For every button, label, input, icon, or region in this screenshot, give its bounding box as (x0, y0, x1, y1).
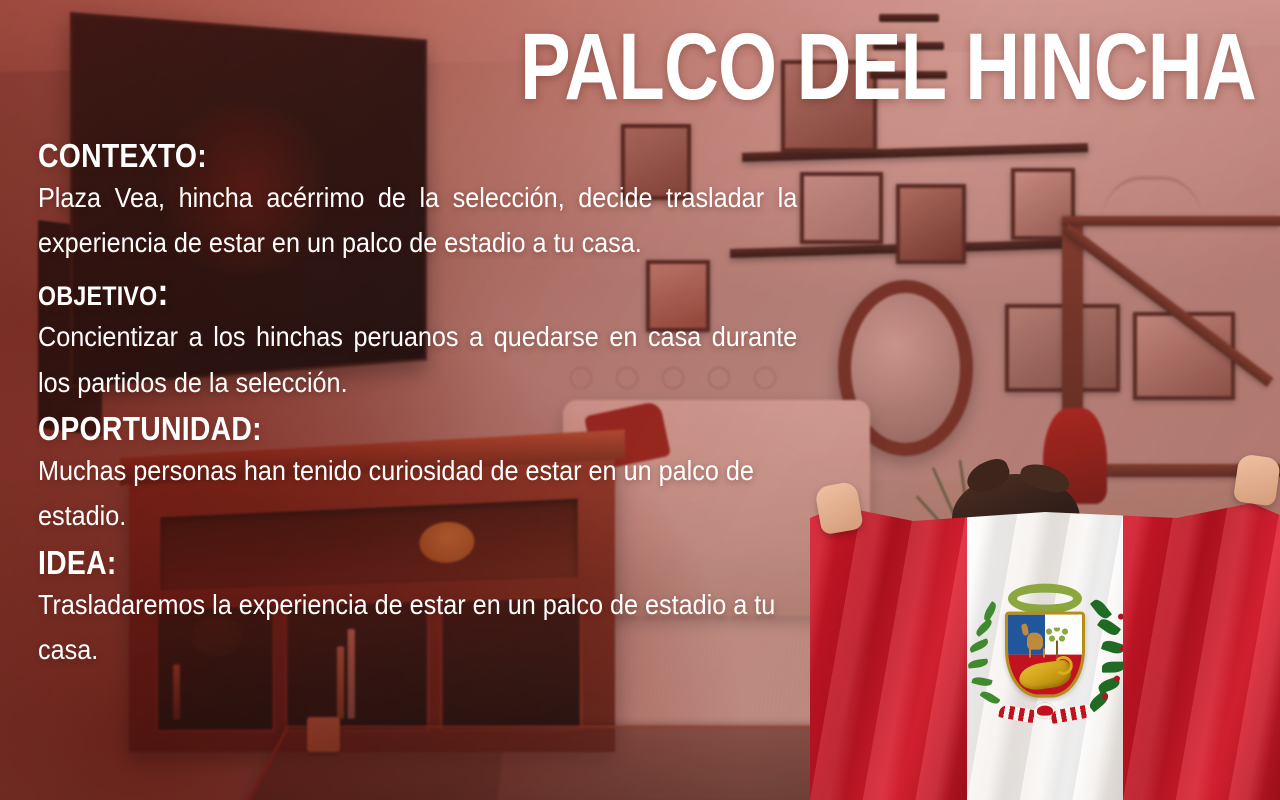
text-blocks: CONTEXTO: Plaza Vea, hincha acérrimo de … (38, 138, 798, 678)
heading-contexto: CONTEXTO: (38, 138, 692, 175)
body-oportunidad: Muchas personas han tenido curiosidad de… (38, 448, 797, 539)
block-oportunidad: OPORTUNIDAD: Muchas personas han tenido … (38, 411, 798, 539)
block-idea: IDEA: Trasladaremos la experiencia de es… (38, 545, 798, 673)
heading-idea: IDEA: (38, 545, 692, 582)
block-contexto: CONTEXTO: Plaza Vea, hincha acérrimo de … (38, 138, 798, 266)
heading-objetivo: Objetivo: (38, 272, 692, 315)
body-objetivo: Concientizar a los hinchas peruanos a qu… (38, 314, 797, 405)
page-title: PALCO DEL HINCHA (520, 22, 1256, 113)
body-contexto: Plaza Vea, hincha acérrimo de la selecci… (38, 175, 797, 266)
block-objetivo: Objetivo: Concientizar a los hinchas per… (38, 272, 798, 405)
body-idea: Trasladaremos la experiencia de estar en… (38, 582, 797, 673)
heading-oportunidad: OPORTUNIDAD: (38, 411, 692, 448)
slide-text-content: PALCO DEL HINCHA CONTEXTO: Plaza Vea, hi… (0, 0, 1280, 800)
slide-palco-del-hincha: PALCO DEL HINCHA CONTEXTO: Plaza Vea, hi… (0, 0, 1280, 800)
